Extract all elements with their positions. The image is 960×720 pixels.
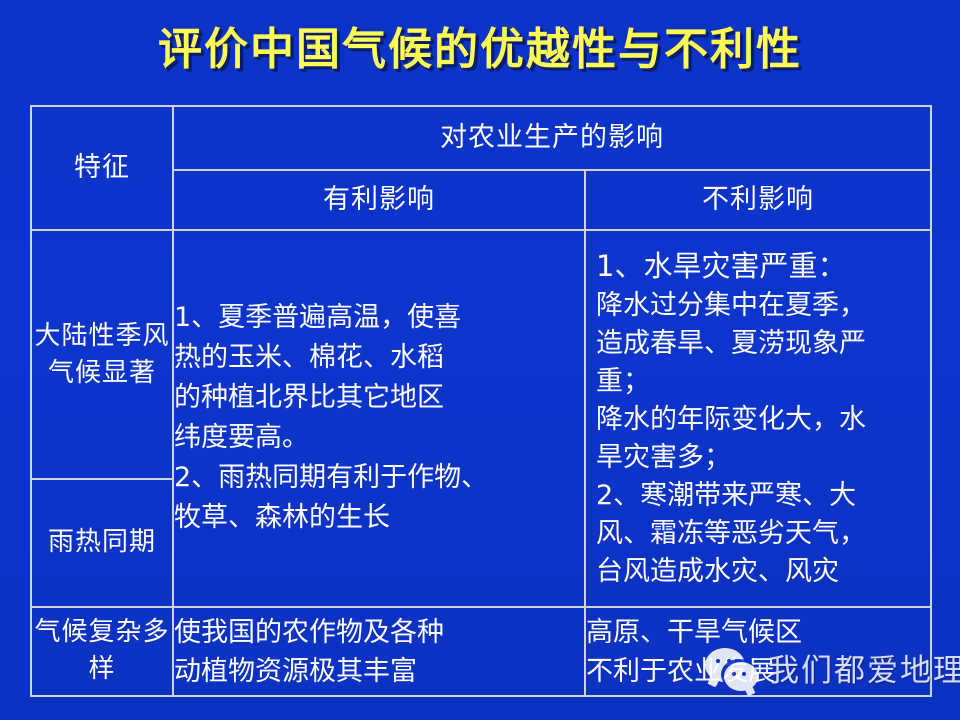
page-title: 评价中国气候的优越性与不利性 [0, 22, 960, 78]
comparison-table: 特征 对农业生产的影响 有利影响 不利影响 大陆性季风气候显著 1、夏季普遍高温… [30, 105, 932, 697]
feature-cell-continental-monsoon: 大陆性季风气候显著 [31, 230, 173, 479]
favorable-line: 1、夏季普遍高温，使喜 [174, 298, 584, 338]
favorable-line: 2、雨热同期有利于作物、 [174, 458, 584, 498]
unfavorable-line: 台风造成水灾、风灾 [596, 553, 930, 591]
favorable-cell-row2: 使我国的农作物及各种 动植物资源极其丰富 [173, 607, 585, 696]
unfavorable-lead: 1、水旱灾害严重： [596, 246, 930, 287]
favorable-line: 牧草、森林的生长 [174, 498, 584, 538]
unfavorable-line: 旱灾害多； [596, 439, 930, 477]
header-cell-favorable: 有利影响 [173, 170, 585, 230]
unfavorable-line: 降水过分集中在夏季， [596, 287, 930, 325]
unfavorable-line: 风、霜冻等恶劣天气， [596, 515, 930, 553]
unfavorable-line: 不利于农业发展 [586, 652, 930, 691]
unfavorable-cell-row1: 1、水旱灾害严重： 降水过分集中在夏季， 造成春旱、夏涝现象严 重； 降水的年际… [585, 230, 931, 607]
unfavorable-line: 降水的年际变化大，水 [596, 401, 930, 439]
favorable-line: 使我国的农作物及各种 [174, 613, 584, 652]
header-cell-unfavorable: 不利影响 [585, 170, 931, 230]
feature-cell-rain-heat-same-period: 雨热同期 [31, 479, 173, 607]
header-cell-feature: 特征 [31, 106, 173, 230]
favorable-line: 纬度要高。 [174, 418, 584, 458]
header-cell-impact-group: 对农业生产的影响 [173, 106, 931, 170]
unfavorable-line: 高原、干旱气候区 [586, 613, 930, 652]
slide-canvas: 评价中国气候的优越性与不利性 特征 对农业生产的影响 有利影响 不利影响 [0, 0, 960, 720]
comparison-table-wrapper: 特征 对农业生产的影响 有利影响 不利影响 大陆性季风气候显著 1、夏季普遍高温… [30, 105, 930, 697]
unfavorable-line: 造成春旱、夏涝现象严 [596, 325, 930, 363]
table-header-row-1: 特征 对农业生产的影响 [31, 106, 931, 170]
unfavorable-line: 重； [596, 363, 930, 401]
table-row: 气候复杂多样 使我国的农作物及各种 动植物资源极其丰富 高原、干旱气候区 不利于… [31, 607, 931, 696]
table-row: 大陆性季风气候显著 1、夏季普遍高温，使喜 热的玉米、棉花、水稻 的种植北界比其… [31, 230, 931, 479]
favorable-cell-row1: 1、夏季普遍高温，使喜 热的玉米、棉花、水稻 的种植北界比其它地区 纬度要高。 … [173, 230, 585, 607]
unfavorable-line: 2、寒潮带来严寒、大 [596, 477, 930, 515]
unfavorable-cell-row2: 高原、干旱气候区 不利于农业发展 [585, 607, 931, 696]
favorable-line: 的种植北界比其它地区 [174, 378, 584, 418]
favorable-line: 热的玉米、棉花、水稻 [174, 338, 584, 378]
favorable-line: 动植物资源极其丰富 [174, 652, 584, 691]
feature-cell-diverse-climate: 气候复杂多样 [31, 607, 173, 696]
